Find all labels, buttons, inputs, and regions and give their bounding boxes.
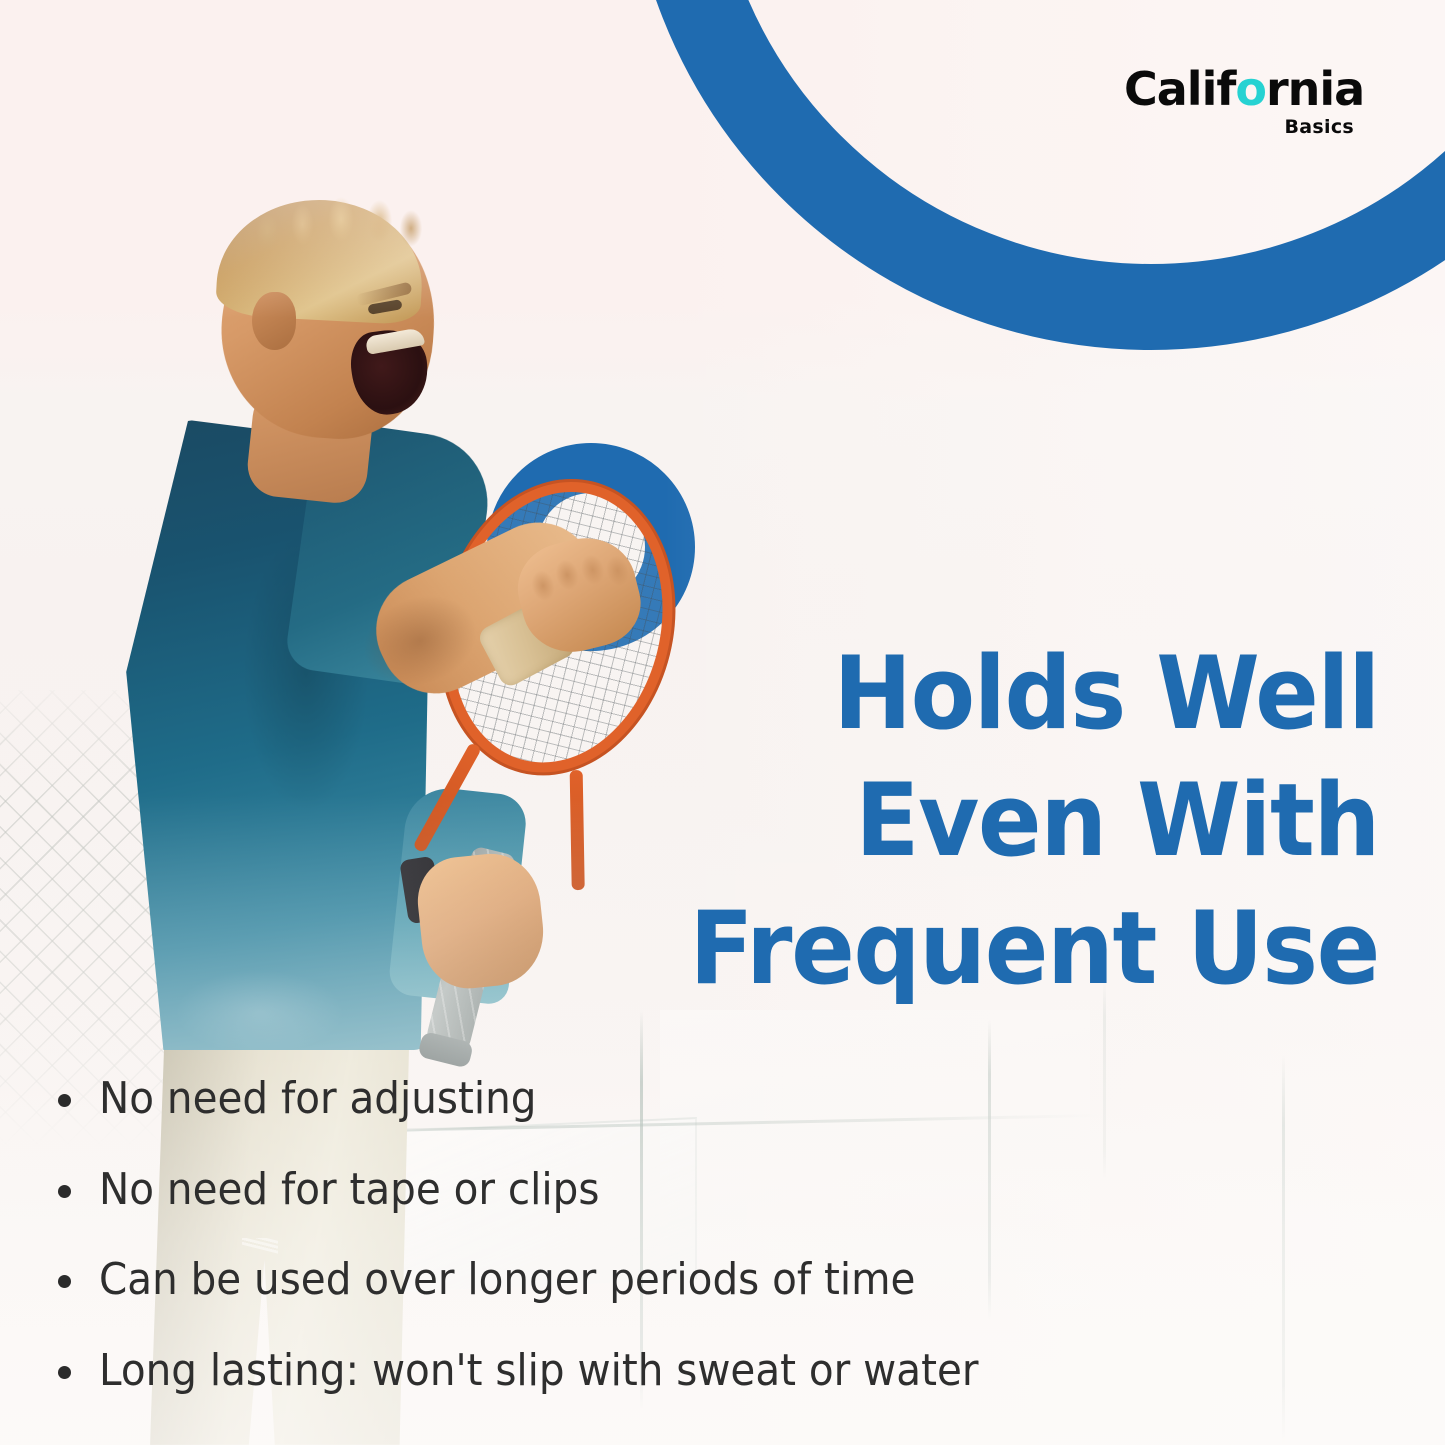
bullet-dot-icon (58, 1094, 71, 1107)
bullet-label: No need for tape or clips (99, 1167, 599, 1214)
bullet-label: Long lasting: won't slip with sweat or w… (99, 1348, 978, 1395)
racquet-throat-left (412, 742, 482, 853)
brand-logo: California Basics (1124, 66, 1354, 137)
brand-logo-wordmark-part2: rnia (1266, 62, 1364, 116)
list-item: Long lasting: won't slip with sweat or w… (58, 1348, 1388, 1395)
headline-line-3: Frequent Use (672, 885, 1379, 1012)
list-item: No need for tape or clips (58, 1167, 1388, 1214)
headline-line-1: Holds Well (672, 630, 1379, 757)
headline-block: Holds Well Even With Frequent Use (619, 630, 1379, 1012)
blue-accent-ring-large (626, 0, 1445, 350)
racquet-throat-right (570, 770, 585, 890)
player-gripping-fingers (437, 867, 544, 984)
brand-logo-teal-o: o (1235, 62, 1266, 116)
feature-bullet-list: No need for adjusting No need for tape o… (58, 1076, 1388, 1439)
brand-logo-subtitle: Basics (1124, 118, 1354, 137)
bullet-dot-icon (58, 1275, 71, 1288)
headline-line-2: Even With (672, 757, 1379, 884)
product-feature-card: California Basics Holds Well Even With F… (0, 0, 1445, 1445)
brand-logo-wordmark-part1: Calif (1124, 62, 1235, 116)
list-item: No need for adjusting (58, 1076, 1388, 1123)
list-item: Can be used over longer periods of time (58, 1257, 1388, 1304)
brand-logo-wordmark: California (1124, 66, 1354, 112)
bullet-label: No need for adjusting (99, 1076, 536, 1123)
bullet-dot-icon (58, 1366, 71, 1379)
bullet-label: Can be used over longer periods of time (99, 1257, 915, 1304)
bullet-dot-icon (58, 1185, 71, 1198)
